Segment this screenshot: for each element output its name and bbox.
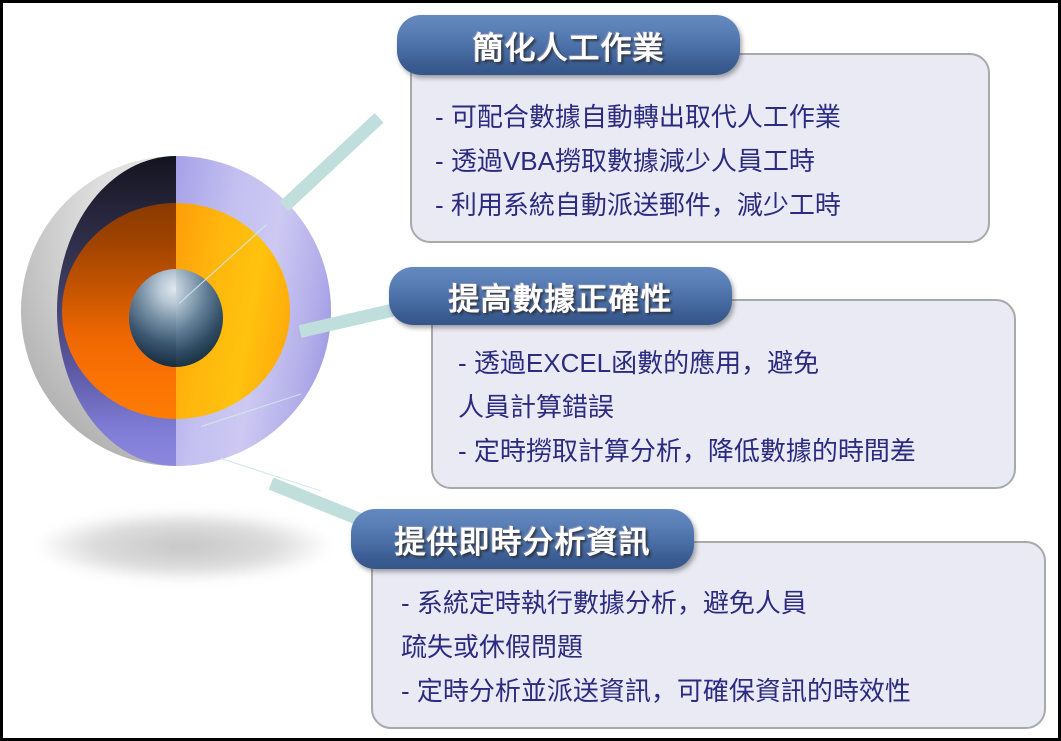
body-line: - 定時撈取計算分析，降低數據的時間差 [458,429,1008,473]
header-pill-section-3[interactable]: 提供即時分析資訊 [351,509,694,569]
body-section-2: - 透過EXCEL函數的應用，避免 人員計算錯誤 - 定時撈取計算分析，降低數據… [458,341,1008,473]
header-label: 提供即時分析資訊 [395,517,651,562]
body-line: - 系統定時執行數據分析，避免人員 [401,581,1041,625]
body-line: - 定時分析並派送資訊，可確保資訊的時效性 [401,669,1041,713]
slide-canvas: - 可配合數據自動轉出取代人工作業 - 透過VBA撈取數據減少人員工時 - 利用… [0,0,1061,741]
body-line: - 利用系統自動派送郵件，減少工時 [435,183,980,227]
body-line: - 透過EXCEL函數的應用，避免 [458,341,1008,385]
sphere-drop-shadow [39,511,329,581]
header-label: 提高數據正確性 [449,274,673,319]
body-line: - 可配合數據自動轉出取代人工作業 [435,95,980,139]
body-line: 人員計算錯誤 [458,385,1008,429]
header-pill-section-1[interactable]: 簡化人工作業 [397,15,740,75]
body-section-1: - 可配合數據自動轉出取代人工作業 - 透過VBA撈取數據減少人員工時 - 利用… [435,95,980,227]
header-label: 簡化人工作業 [473,23,665,68]
body-section-3: - 系統定時執行數據分析，避免人員 疏失或休假問題 - 定時分析並派送資訊，可確… [401,581,1041,713]
body-line: - 透過VBA撈取數據減少人員工時 [435,139,980,183]
body-line: 疏失或休假問題 [401,625,1041,669]
header-pill-section-2[interactable]: 提高數據正確性 [389,267,732,325]
